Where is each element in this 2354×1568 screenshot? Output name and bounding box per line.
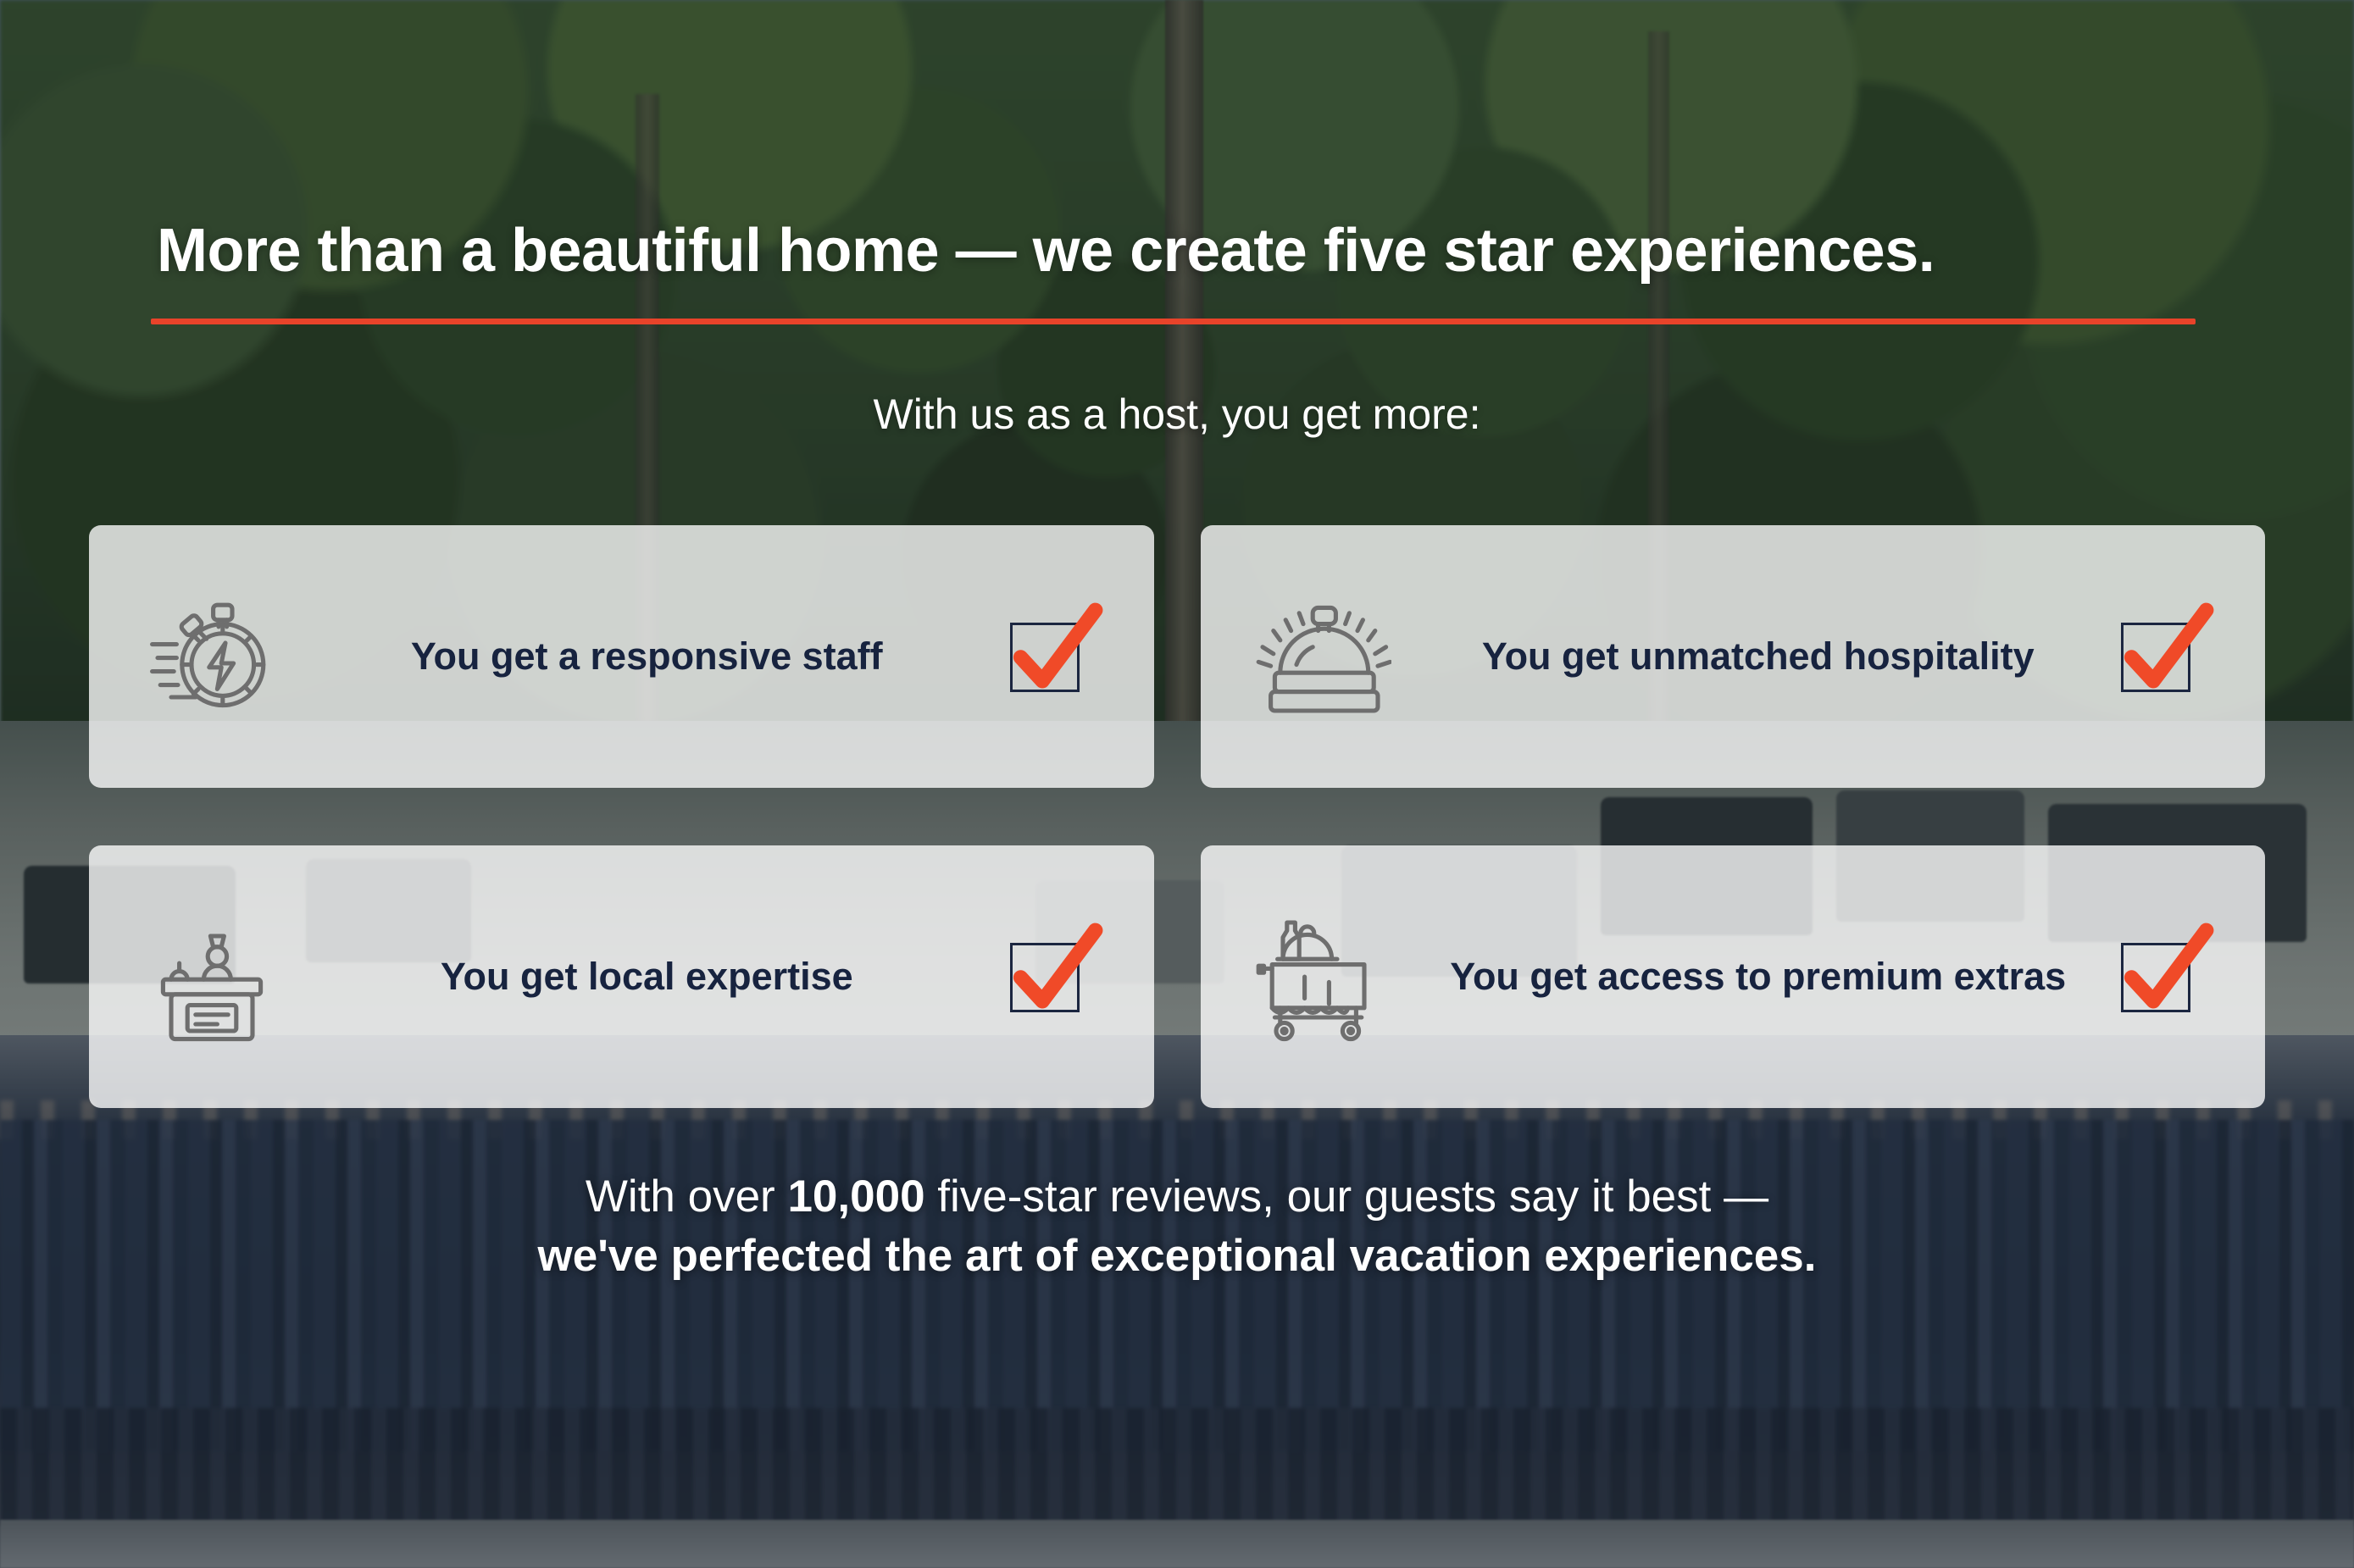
reviews-footnote: With over 10,000 five-star reviews, our … bbox=[0, 1167, 2354, 1287]
benefit-label: You get local expertise bbox=[284, 955, 1010, 999]
check-icon bbox=[2116, 923, 2214, 1021]
check-icon bbox=[1005, 923, 1103, 1021]
service-bell-icon bbox=[1252, 585, 1396, 729]
title-underline-rule bbox=[151, 319, 2196, 324]
footnote-review-count: 10,000 bbox=[787, 1172, 924, 1222]
benefit-checkbox[interactable] bbox=[1010, 614, 1095, 699]
benefit-card-responsive-staff[interactable]: You get a responsive staff bbox=[89, 525, 1154, 788]
footnote-suffix: five-star reviews, our guests say it bes… bbox=[925, 1172, 1769, 1222]
concierge-desk-icon bbox=[140, 905, 284, 1049]
benefit-label: You get access to premium extras bbox=[1396, 955, 2122, 999]
check-icon bbox=[2116, 602, 2214, 701]
room-service-cart-icon bbox=[1252, 905, 1396, 1049]
stopwatch-speed-icon bbox=[140, 585, 284, 729]
footnote-line-2: we've perfected the art of exceptional v… bbox=[0, 1227, 2354, 1286]
benefit-checkbox[interactable] bbox=[2121, 934, 2206, 1019]
benefit-label: You get a responsive staff bbox=[284, 634, 1010, 679]
benefit-card-premium-extras[interactable]: You get access to premium extras bbox=[1201, 845, 2266, 1108]
hero-section: More than a beautiful home — we create f… bbox=[0, 0, 2354, 1568]
check-icon bbox=[1005, 602, 1103, 701]
page-title: More than a beautiful home — we create f… bbox=[157, 219, 2207, 283]
benefit-checkbox[interactable] bbox=[2121, 614, 2206, 699]
benefit-card-unmatched-hospitality[interactable]: You get unmatched hospitality bbox=[1201, 525, 2266, 788]
benefits-grid: You get a responsive staff bbox=[89, 525, 2265, 1108]
benefit-label: You get unmatched hospitality bbox=[1396, 634, 2122, 679]
benefit-checkbox[interactable] bbox=[1010, 934, 1095, 1019]
footnote-prefix: With over bbox=[586, 1172, 788, 1222]
page-subtitle: With us as a host, you get more: bbox=[0, 390, 2354, 439]
benefit-card-local-expertise[interactable]: You get local expertise bbox=[89, 845, 1154, 1108]
